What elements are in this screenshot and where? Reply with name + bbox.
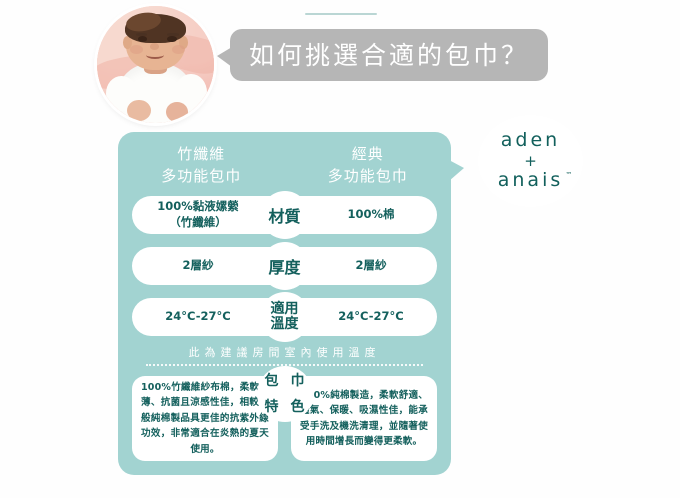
title-speech-bubble: 如何挑選合適的包巾？ (230, 29, 548, 81)
comparison-panel: 竹纖維 多功能包巾 經典 多功能包巾 100%黏液嫘縈 （竹纖維） 材質 100… (118, 132, 451, 475)
column-header-classic-line2: 多功能包巾 (285, 166, 452, 188)
badge-features-char-2: 巾 (285, 374, 311, 388)
column-header-classic: 經典 多功能包巾 (285, 144, 452, 196)
badge-features-char-3: 特 (259, 400, 285, 414)
feature-text-classic: 100%純棉製造，柔軟舒適、透氣、保暖、吸濕性佳，能承受手洗及機洗清理，並隨著使… (300, 388, 428, 450)
baby-photo-image (97, 6, 214, 123)
column-header-bamboo-line2: 多功能包巾 (118, 166, 285, 188)
brand-logo-line3-text: anais (498, 169, 564, 191)
feature-text-bamboo: 100%竹纖維紗布棉，柔軟輕薄、抗菌且涼感性佳，相較一般純棉製品具更佳的抗紫外線… (141, 380, 269, 457)
table-row-material: 100%黏液嫘縈 （竹纖維） 材質 100%棉 (132, 196, 437, 234)
badge-material: 材質 (263, 193, 307, 237)
dotted-divider (146, 364, 423, 366)
badge-temperature-line1: 適用 (271, 302, 299, 317)
badge-features-char-1: 包 (259, 374, 285, 388)
feature-section: 100%竹纖維紗布棉，柔軟輕薄、抗菌且涼感性佳，相較一般純棉製品具更佳的抗紫外線… (132, 376, 437, 461)
column-header-bamboo: 竹纖維 多功能包巾 (118, 144, 285, 196)
trademark-icon: ™ (565, 171, 572, 180)
cell-thickness-bamboo: 2層紗 (136, 247, 260, 285)
feature-card-bamboo: 100%竹纖維紗布棉，柔軟輕薄、抗菌且涼感性佳，相較一般純棉製品具更佳的抗紫外線… (132, 376, 278, 461)
cell-thickness-classic: 2層紗 (309, 247, 433, 285)
cell-material-bamboo-line1: 100%黏液嫘縈 (157, 199, 239, 215)
cell-temperature-bamboo: 24°C-27°C (136, 298, 260, 336)
page-title: 如何挑選合適的包巾？ (249, 43, 529, 68)
column-headers: 竹纖維 多功能包巾 經典 多功能包巾 (118, 144, 451, 196)
table-row-thickness: 2層紗 厚度 2層紗 (132, 247, 437, 285)
column-header-bamboo-line1: 竹纖維 (118, 144, 285, 166)
column-header-classic-line1: 經典 (285, 144, 452, 166)
brand-logo-line1: aden (501, 129, 560, 153)
feature-card-classic: 100%純棉製造，柔軟舒適、透氣、保暖、吸濕性佳，能承受手洗及機洗清理，並隨著使… (291, 376, 437, 461)
brand-logo: aden + anais ™ (478, 115, 583, 207)
cell-material-bamboo-line2: （竹纖維） (157, 215, 239, 231)
badge-thickness: 厚度 (263, 244, 307, 288)
baby-photo (97, 6, 214, 123)
badge-temperature-line2: 溫度 (271, 317, 299, 332)
badge-temperature: 適用 溫度 (262, 294, 308, 340)
speech-bubble-tail-icon (217, 47, 232, 67)
cell-material-classic: 100%棉 (309, 196, 433, 234)
panel-tail-icon (449, 160, 464, 181)
brand-logo-plus: + (524, 153, 537, 170)
badge-features-char-4: 色 (285, 400, 311, 414)
infographic-page: 如何挑選合適的包巾？ aden + anais ™ 竹纖維 多功能包巾 經典 多… (0, 0, 680, 498)
badge-features: 包 巾 特 色 (259, 368, 311, 420)
cell-material-bamboo: 100%黏液嫘縈 （竹纖維） (136, 196, 260, 234)
top-divider-rule (305, 13, 377, 15)
brand-logo-line3: anais ™ (498, 169, 564, 193)
temperature-note: 此為建議房間室內使用溫度 (118, 344, 451, 360)
table-row-temperature: 24°C-27°C 適用 溫度 24°C-27°C (132, 298, 437, 336)
cell-temperature-classic: 24°C-27°C (309, 298, 433, 336)
